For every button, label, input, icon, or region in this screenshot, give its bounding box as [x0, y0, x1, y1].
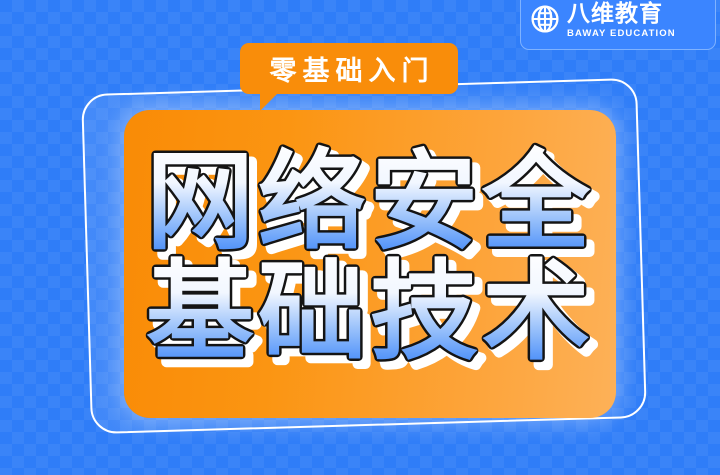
entry-level-badge: 零基础入门 [240, 43, 458, 94]
course-title-block: 网络安全 网络安全 基础技术 基础技术 [124, 110, 616, 418]
globe-icon [530, 4, 560, 39]
brand-text-group: 八维教育 BAWAY EDUCATION [567, 3, 676, 39]
title-line-1-text: 网络安全 [146, 140, 594, 265]
course-title-line-2: 基础技术 基础技术 [137, 267, 603, 371]
brand-name-en: BAWAY EDUCATION [567, 29, 676, 39]
brand-logo-plate: 八维教育 BAWAY EDUCATION [520, 0, 716, 50]
entry-level-badge-label: 零基础入门 [264, 49, 435, 88]
brand-name-cn: 八维教育 [567, 3, 676, 26]
course-title-line-1: 网络安全 网络安全 [137, 157, 603, 261]
banner-stage: 网络安全 网络安全 基础技术 基础技术 零基础入门 [0, 0, 720, 475]
title-line-2-text: 基础技术 [146, 250, 594, 375]
badge-tail-pointer [260, 92, 279, 111]
